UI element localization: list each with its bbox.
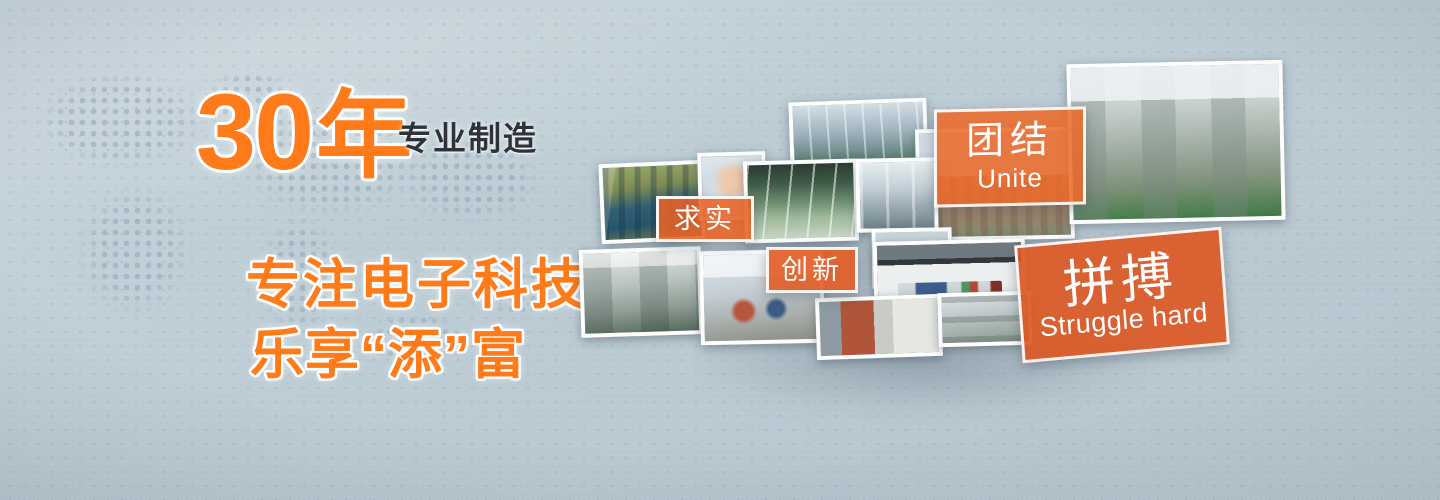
promo-banner: 30年 专业制造 专注电子科技 乐享“添”富 <box>0 0 1440 500</box>
vignette-overlay <box>0 0 1440 500</box>
